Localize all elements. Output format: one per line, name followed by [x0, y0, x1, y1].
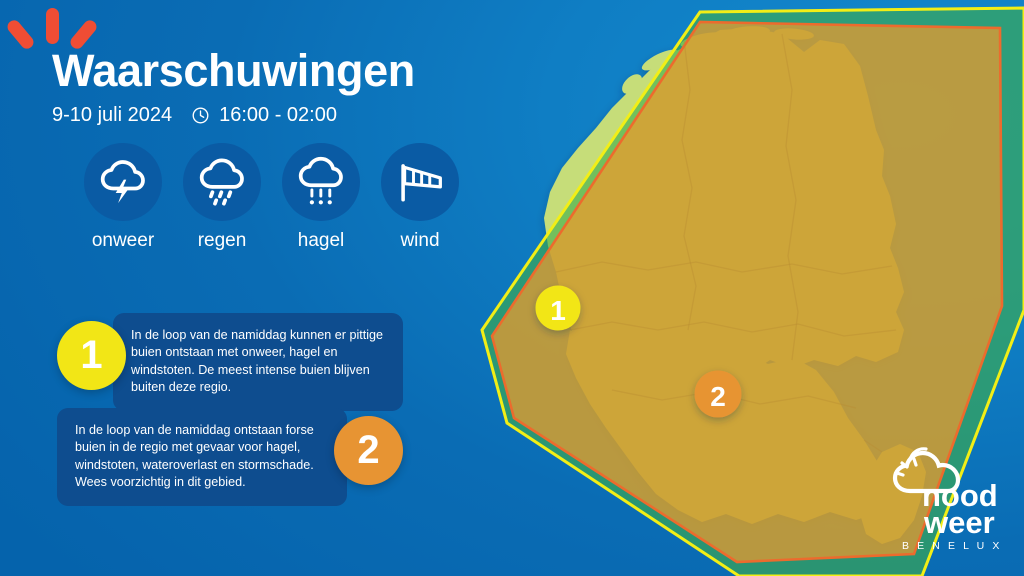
hazard-label: hagel — [282, 230, 360, 252]
map-marker-2-label: 2 — [710, 381, 726, 412]
hazard-label: regen — [183, 230, 261, 252]
hail-icon — [282, 143, 360, 221]
map-marker-1-label: 1 — [550, 295, 566, 326]
ray-center-icon — [46, 8, 59, 44]
hazard-onweer: onweer — [84, 143, 162, 252]
hazard-icon-row: onweer regen — [84, 143, 459, 252]
logo-region: B E N E L U X — [902, 540, 1002, 552]
windsock-icon — [381, 143, 459, 221]
legend-1-badge: 1 — [57, 321, 126, 390]
hazard-regen: regen — [183, 143, 261, 252]
legend-2-text: In de loop van de namiddag ontstaan fors… — [75, 422, 329, 492]
legend-2-panel: In de loop van de namiddag ontstaan fors… — [57, 408, 347, 506]
sun-rays-mark — [14, 8, 92, 42]
legend-2-badge: 2 — [334, 416, 403, 485]
legend-1-panel: In de loop van de namiddag kunnen er pit… — [113, 313, 403, 411]
rain-icon — [183, 143, 261, 221]
hazard-hagel: hagel — [282, 143, 360, 252]
ray-left-icon — [5, 18, 36, 52]
hazard-label: onweer — [84, 230, 162, 252]
thunderstorm-icon — [84, 143, 162, 221]
legend-1-text: In de loop van de namiddag kunnen er pit… — [131, 327, 385, 397]
hazard-wind: wind — [381, 143, 459, 252]
page-header: Waarschuwingen 9-10 juli 2024 16:00 - 02… — [52, 8, 415, 127]
logo-word-bottom: weer — [923, 505, 995, 540]
page-title: Waarschuwingen — [52, 48, 415, 93]
clock-icon — [191, 106, 210, 125]
date-text: 9-10 juli 2024 — [52, 104, 172, 127]
hazard-label: wind — [381, 230, 459, 252]
map-marker-1[interactable]: 1 — [536, 286, 581, 331]
noodweer-benelux-logo[interactable]: nood weer B E N E L U X — [888, 443, 1016, 555]
map-marker-2[interactable]: 2 — [695, 371, 742, 418]
date-time-line: 9-10 juli 2024 16:00 - 02:00 — [52, 104, 415, 127]
time-range-text: 16:00 - 02:00 — [219, 104, 337, 127]
